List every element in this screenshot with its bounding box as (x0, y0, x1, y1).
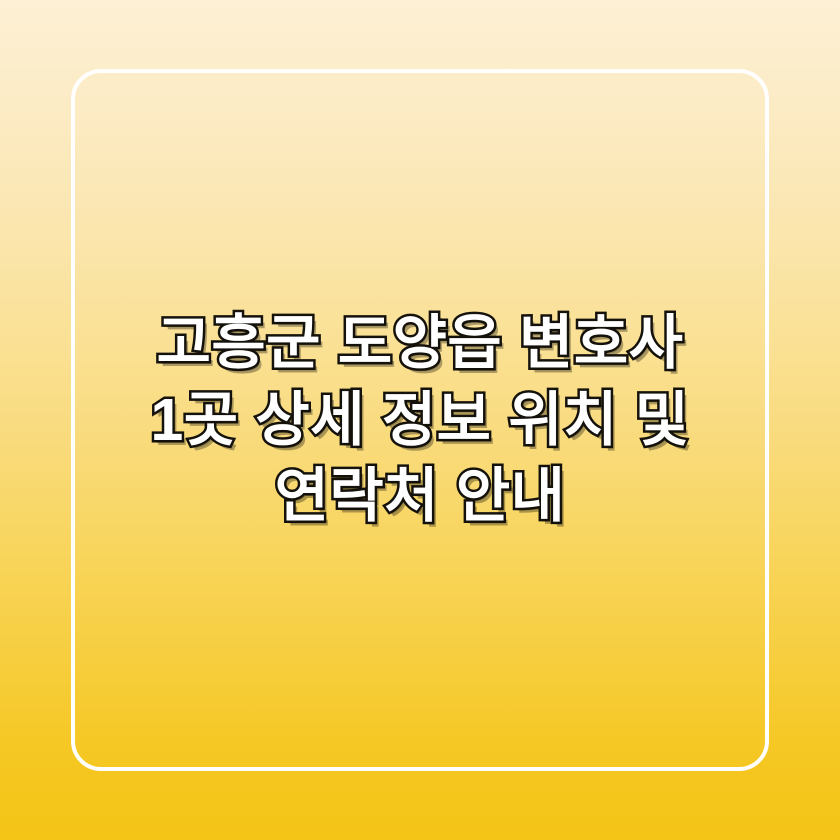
headline-line-2: 1곳 상세 정보 위치 및 (150, 387, 689, 453)
headline-line-1: 고흥군 도양읍 변호사 (157, 310, 684, 376)
headline-line-3: 연락처 안내 (275, 463, 566, 529)
poster-canvas: 고흥군 도양읍 변호사 1곳 상세 정보 위치 및 연락처 안내 (0, 0, 840, 840)
page-title: 고흥군 도양읍 변호사 1곳 상세 정보 위치 및 연락처 안내 (90, 305, 750, 535)
headline-container: 고흥군 도양읍 변호사 1곳 상세 정보 위치 및 연락처 안내 (0, 0, 840, 840)
